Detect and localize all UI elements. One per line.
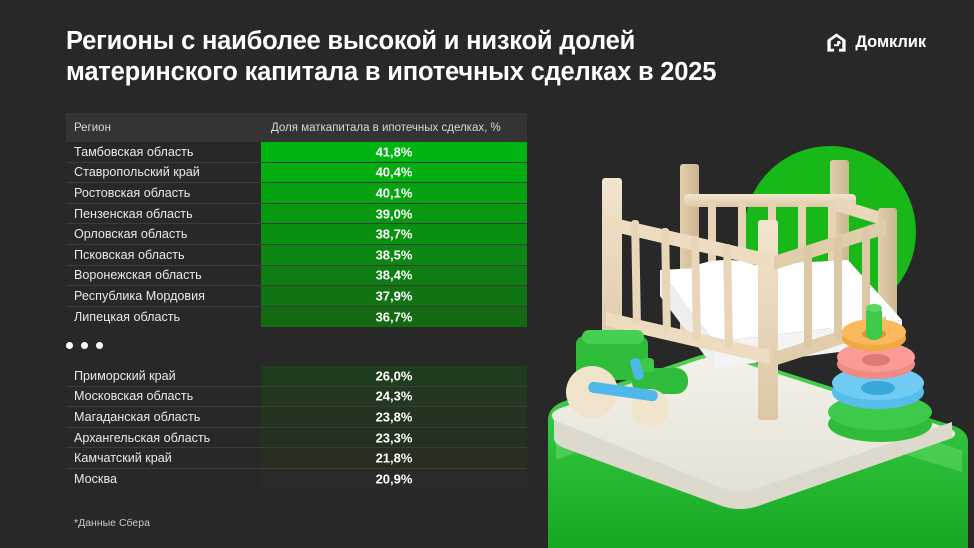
table-row: Липецкая область36,7% [66, 307, 527, 328]
table-row: Магаданская область23,8% [66, 407, 527, 428]
table-group-highest: Тамбовская область41,8%Ставропольский кр… [66, 142, 527, 327]
table-row: Московская область24,3% [66, 387, 527, 408]
table-row: Пензенская область39,0% [66, 204, 527, 225]
ellipsis-dot [66, 342, 73, 349]
column-header-region: Регион [74, 122, 111, 134]
page-title-line-2: материнского капитала в ипотечных сделка… [66, 57, 806, 88]
data-table-lowest: Приморский край26,0%Московская область24… [66, 366, 527, 490]
share-value: 40,4% [261, 165, 527, 180]
region-label: Воронежская область [74, 268, 202, 282]
brand-logo: Домклик [826, 32, 926, 53]
ellipsis-separator [66, 342, 103, 349]
region-label: Приморский край [74, 369, 176, 383]
table-header-row: Регион Доля маткапитала в ипотечных сдел… [66, 113, 527, 142]
share-value: 23,8% [261, 409, 527, 424]
table-row: Приморский край26,0% [66, 366, 527, 387]
ellipsis-dot [96, 342, 103, 349]
region-label: Псковская область [74, 248, 185, 262]
share-value: 40,1% [261, 185, 527, 200]
nursery-illustration [548, 120, 974, 548]
source-footnote: *Данные Сбера [74, 517, 150, 529]
share-value: 26,0% [261, 368, 527, 383]
table-row: Тамбовская область41,8% [66, 142, 527, 163]
table-row: Камчатский край21,8% [66, 448, 527, 469]
share-value: 41,8% [261, 144, 527, 159]
data-table: Регион Доля маткапитала в ипотечных сдел… [66, 113, 527, 327]
share-value: 38,4% [261, 268, 527, 283]
share-value: 20,9% [261, 472, 527, 487]
region-label: Московская область [74, 389, 193, 403]
region-label: Липецкая область [74, 310, 180, 324]
table-row: Москва20,9% [66, 469, 527, 490]
share-value: 38,7% [261, 227, 527, 242]
region-label: Тамбовская область [74, 145, 193, 159]
share-value: 39,0% [261, 206, 527, 221]
crib-toys-render [548, 120, 974, 548]
region-label: Магаданская область [74, 410, 200, 424]
region-label: Ростовская область [74, 186, 190, 200]
column-header-share: Доля маткапитала в ипотечных сделках, % [271, 122, 501, 134]
share-value: 38,5% [261, 247, 527, 262]
region-label: Архангельская область [74, 431, 210, 445]
table-row: Псковская область38,5% [66, 245, 527, 266]
region-label: Республика Мордовия [74, 289, 205, 303]
region-label: Орловская область [74, 227, 187, 241]
share-value: 23,3% [261, 430, 527, 445]
region-label: Пензенская область [74, 207, 193, 221]
infographic-page: Регионы с наиболее высокой и низкой доле… [0, 0, 974, 548]
table-row: Воронежская область38,4% [66, 266, 527, 287]
region-label: Ставропольский край [74, 165, 200, 179]
page-title: Регионы с наиболее высокой и низкой доле… [66, 26, 806, 88]
region-label: Камчатский край [74, 451, 172, 465]
table-group-lowest: Приморский край26,0%Московская область24… [66, 366, 527, 490]
table-row: Ставропольский край40,4% [66, 163, 527, 184]
page-title-line-1: Регионы с наиболее высокой и низкой доле… [66, 26, 806, 57]
share-value: 37,9% [261, 288, 527, 303]
share-value: 24,3% [261, 389, 527, 404]
share-value: 36,7% [261, 310, 527, 325]
house-logo-icon [826, 32, 847, 53]
ellipsis-dot [81, 342, 88, 349]
table-row: Республика Мордовия37,9% [66, 286, 527, 307]
brand-logo-text: Домклик [855, 33, 926, 52]
table-row: Архангельская область23,3% [66, 428, 527, 449]
share-value: 21,8% [261, 451, 527, 466]
region-label: Москва [74, 472, 117, 486]
table-row: Ростовская область40,1% [66, 183, 527, 204]
table-row: Орловская область38,7% [66, 224, 527, 245]
